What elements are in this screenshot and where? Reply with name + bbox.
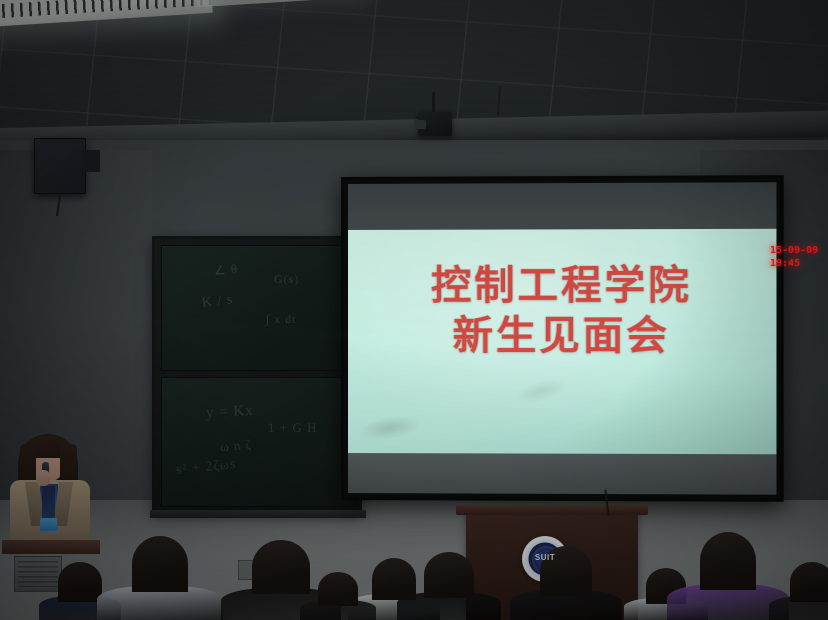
audience-row: [0, 510, 828, 620]
screen-band-top: [348, 182, 776, 230]
audience-member-head: [252, 540, 310, 594]
timestamp-date: 15-09-09: [770, 244, 818, 257]
timestamp-time: 19:45: [770, 257, 818, 270]
chalk-text: ω n ζ: [219, 437, 252, 456]
projection-screen: 控制工程学院 新生见面会: [341, 175, 784, 502]
audience-member-head: [372, 558, 416, 600]
slide-title-line-1: 控制工程学院: [348, 261, 776, 311]
chalk-text: s² + 2ζωs: [175, 457, 237, 479]
camera-timestamp-overlay: 15-09-09 19:45: [770, 244, 818, 270]
chalk-text: ∠ θ: [213, 261, 238, 279]
slide-title-line-2: 新生见面会: [348, 311, 776, 361]
chalk-text: ∫ x dt: [266, 312, 297, 327]
audience-member-head: [700, 532, 756, 590]
audience-member-head: [790, 562, 828, 602]
projector-mount-arm: [432, 92, 435, 114]
slide-title-block: 控制工程学院 新生见面会: [348, 261, 776, 361]
audience-member-head: [132, 536, 188, 592]
blackboard: ∠ θ G(s) K / s ∫ x dt y = Kx 1 + G H ω n…: [152, 236, 362, 514]
chalk-text: K / s: [201, 292, 234, 312]
audience-member-head: [58, 562, 102, 602]
audience-member-head: [318, 572, 358, 606]
audience-member-head: [424, 552, 474, 598]
chalk-text: 1 + G H: [268, 420, 317, 436]
presenter-hand: [36, 470, 50, 486]
screen-smudge: [513, 374, 569, 408]
screen-smudge: [357, 412, 422, 443]
screen-band-bottom: [348, 453, 776, 495]
blackboard-upper-panel: ∠ θ G(s) K / s ∫ x dt: [161, 245, 355, 371]
projected-slide: 控制工程学院 新生见面会: [348, 229, 776, 454]
lecture-hall-photo: ∠ θ G(s) K / s ∫ x dt y = Kx 1 + G H ω n…: [0, 0, 828, 620]
wall-speaker-icon: [34, 138, 86, 194]
speaker-bracket: [82, 150, 100, 172]
projector-lens-icon: [414, 120, 426, 129]
chalk-text: G(s): [274, 272, 299, 287]
blackboard-lower-panel: y = Kx 1 + G H ω n ζ s² + 2ζωs: [161, 377, 355, 507]
chalk-text: y = Kx: [206, 403, 255, 422]
emblem-label: SUIT: [523, 553, 567, 562]
